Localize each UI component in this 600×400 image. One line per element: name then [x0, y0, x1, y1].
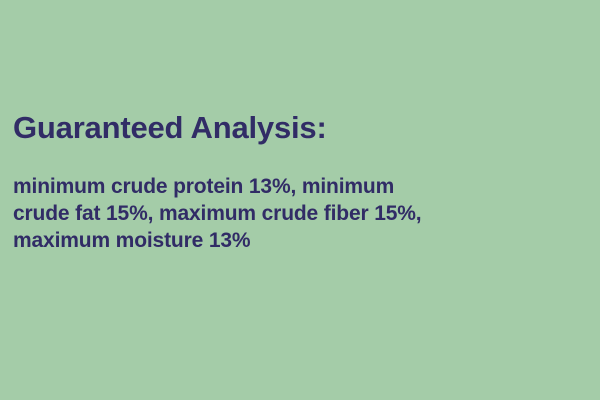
guaranteed-analysis-text: minimum crude protein 13%, minimum crude…: [13, 173, 554, 254]
analysis-line-3: maximum moisture 13%: [13, 227, 554, 254]
text-content-block: Guaranteed Analysis: minimum crude prote…: [13, 108, 573, 254]
analysis-line-2: crude fat 15%, maximum crude fiber 15%,: [13, 200, 554, 227]
page-title: Guaranteed Analysis:: [13, 108, 573, 148]
analysis-line-1: minimum crude protein 13%, minimum: [13, 173, 554, 200]
guaranteed-analysis-panel: Guaranteed Analysis: minimum crude prote…: [0, 0, 600, 400]
